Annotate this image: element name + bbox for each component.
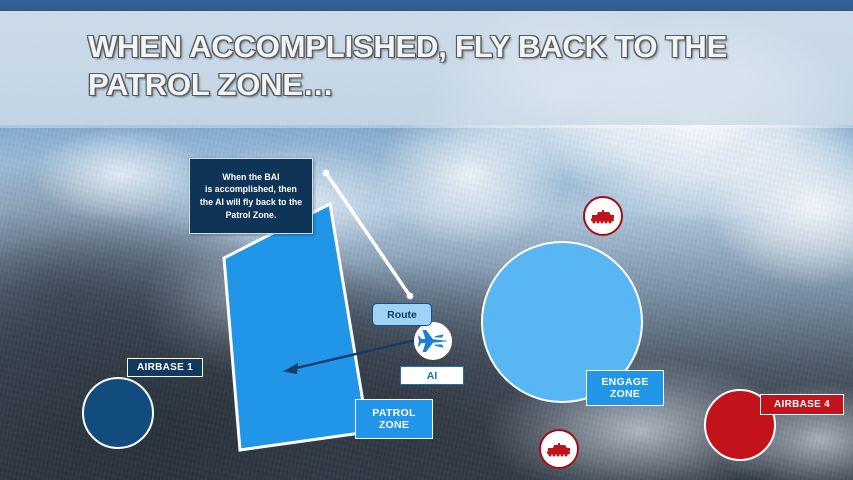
patrol-zone-label: PATROL ZONE bbox=[355, 399, 433, 439]
title-band-divider bbox=[0, 125, 853, 128]
armored-vehicle-icon bbox=[590, 209, 616, 224]
ground-target-2-marker[interactable] bbox=[539, 429, 579, 469]
fighter-jet-icon bbox=[418, 328, 448, 354]
airbase-1-label-text: AIRBASE 1 bbox=[137, 362, 193, 374]
ai-aircraft-label: AI bbox=[400, 366, 464, 385]
slide-top-bar bbox=[0, 0, 853, 11]
patrol-zone-label-text: PATROL ZONE bbox=[372, 407, 415, 432]
route-label[interactable]: Route bbox=[372, 303, 432, 326]
patrol-zone-polygon[interactable] bbox=[224, 204, 368, 450]
ground-target-1-marker[interactable] bbox=[583, 196, 623, 236]
airbase-1-label: AIRBASE 1 bbox=[127, 358, 203, 377]
slide-canvas: WHEN ACCOMPLISHED, FLY BACK TO THE PATRO… bbox=[0, 0, 853, 480]
ai-aircraft-label-text: AI bbox=[427, 370, 438, 382]
ai-aircraft-marker[interactable] bbox=[414, 322, 452, 360]
bai-explanation-callout: When the BAI is accomplished, then the A… bbox=[189, 158, 313, 234]
airbase-4-label-text: AIRBASE 4 bbox=[774, 399, 830, 411]
airbase-4-label: AIRBASE 4 bbox=[760, 394, 844, 415]
armored-vehicle-icon bbox=[546, 442, 572, 457]
patrol-zone-shape[interactable] bbox=[222, 198, 374, 456]
route-label-text: Route bbox=[387, 309, 417, 321]
page-title: WHEN ACCOMPLISHED, FLY BACK TO THE PATRO… bbox=[88, 28, 808, 104]
engage-zone-label-text: ENGAGE ZONE bbox=[601, 376, 648, 401]
airbase-1-marker[interactable] bbox=[82, 377, 154, 449]
engage-zone-label: ENGAGE ZONE bbox=[586, 370, 664, 406]
